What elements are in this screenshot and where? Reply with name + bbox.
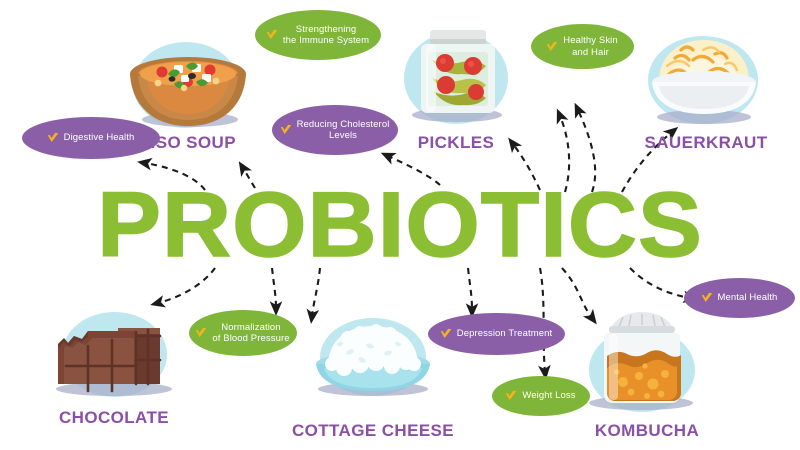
checkmark-icon [46,131,60,145]
bowl-of-sauerkraut-icon [645,38,763,116]
benefit-pill-depression-treatment[interactable]: Depression Treatment [428,313,565,355]
benefit-label: Digestive Health [64,132,135,144]
page-title: PROBIOTICS [0,180,800,270]
benefit-pill-healthy-skin-hair[interactable]: Healthy Skin and Hair [531,24,634,69]
benefit-label: Normalization of Blood Pressure [212,322,289,345]
benefit-pill-digestive-health[interactable]: Digestive Health [22,117,160,159]
jar-of-pickles-icon [418,30,498,116]
checkmark-icon [545,40,559,54]
benefit-label: Depression Treatment [457,328,552,340]
benefit-pill-weight-loss[interactable]: Weight Loss [492,376,590,416]
benefit-label: Strengthening the Immune System [283,24,369,47]
jar-of-kombucha-icon [601,310,683,406]
benefit-label: Weight Loss [522,390,575,402]
food-label-chocolate: CHOCOLATE [44,408,184,428]
benefit-label: Reducing Cholesterol Levels [297,119,390,142]
checkmark-icon [439,327,453,341]
chocolate-bar-icon [50,322,170,390]
benefit-label: Healthy Skin and Hair [563,35,618,58]
food-label-kombucha: KOMBUCHA [572,421,722,441]
benefit-pill-blood-pressure[interactable]: Normalization of Blood Pressure [189,310,297,356]
food-label-pickles: PICKLES [386,133,526,153]
checkmark-icon [194,326,208,340]
infographic-canvas: MISO SOUP PICKLES [0,0,800,450]
checkmark-icon [700,291,714,305]
checkmark-icon [279,123,293,137]
benefit-pill-immune-system[interactable]: Strengthening the Immune System [255,10,381,60]
benefit-pill-reducing-cholesterol[interactable]: Reducing Cholesterol Levels [272,105,398,155]
checkmark-icon [265,28,279,42]
bowl-of-cottage-cheese-icon [310,320,436,392]
checkmark-icon [504,389,518,403]
food-label-cottage-cheese: COTTAGE CHEESE [288,421,458,441]
benefit-pill-mental-health[interactable]: Mental Health [684,278,795,318]
bowl-of-miso-soup-icon [126,52,250,128]
benefit-label: Mental Health [718,292,778,304]
food-label-sauerkraut: SAUERKRAUT [631,133,781,153]
